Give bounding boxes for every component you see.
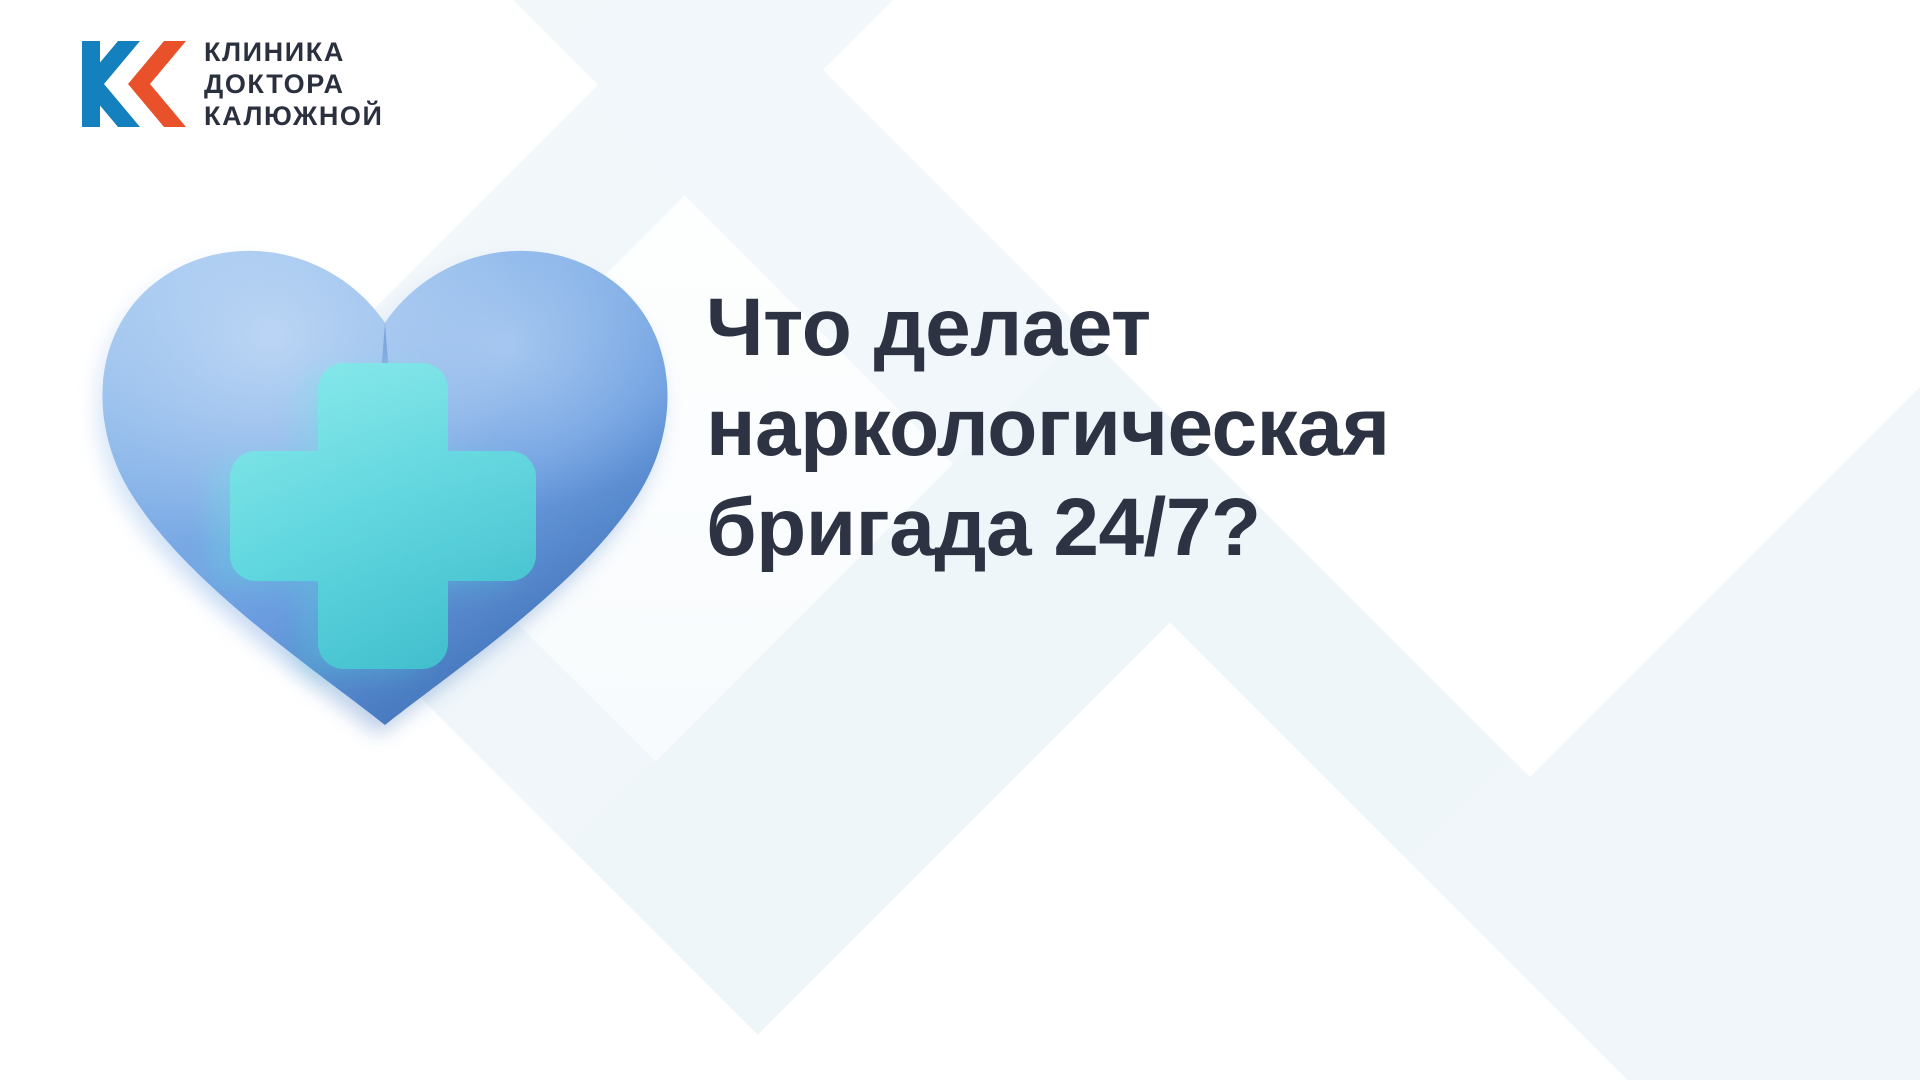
kk-double-chevron-logo-icon [78, 28, 190, 140]
heart-illustration [70, 195, 700, 755]
brand-logo-text: КЛИНИКА ДОКТОРА КАЛЮЖНОЙ [204, 39, 384, 130]
brand-logo-line-2: ДОКТОРА [204, 71, 384, 98]
headline-line-1: Что делает [706, 278, 1836, 378]
promo-banner: КЛИНИКА ДОКТОРА КАЛЮЖНОЙ [0, 0, 1920, 1080]
headline: Что делает наркологическая бригада 24/7? [706, 278, 1836, 578]
headline-line-2: наркологическая [706, 378, 1836, 478]
background-cutout-4 [633, 623, 1708, 1080]
brand-logo-line-1: КЛИНИКА [204, 39, 384, 66]
brand-logo-line-3: КАЛЮЖНОЙ [204, 103, 384, 130]
headline-line-3: бригада 24/7? [706, 478, 1836, 578]
heart-with-medical-cross-icon [70, 195, 700, 755]
brand-logo[interactable]: КЛИНИКА ДОКТОРА КАЛЮЖНОЙ [78, 28, 384, 140]
